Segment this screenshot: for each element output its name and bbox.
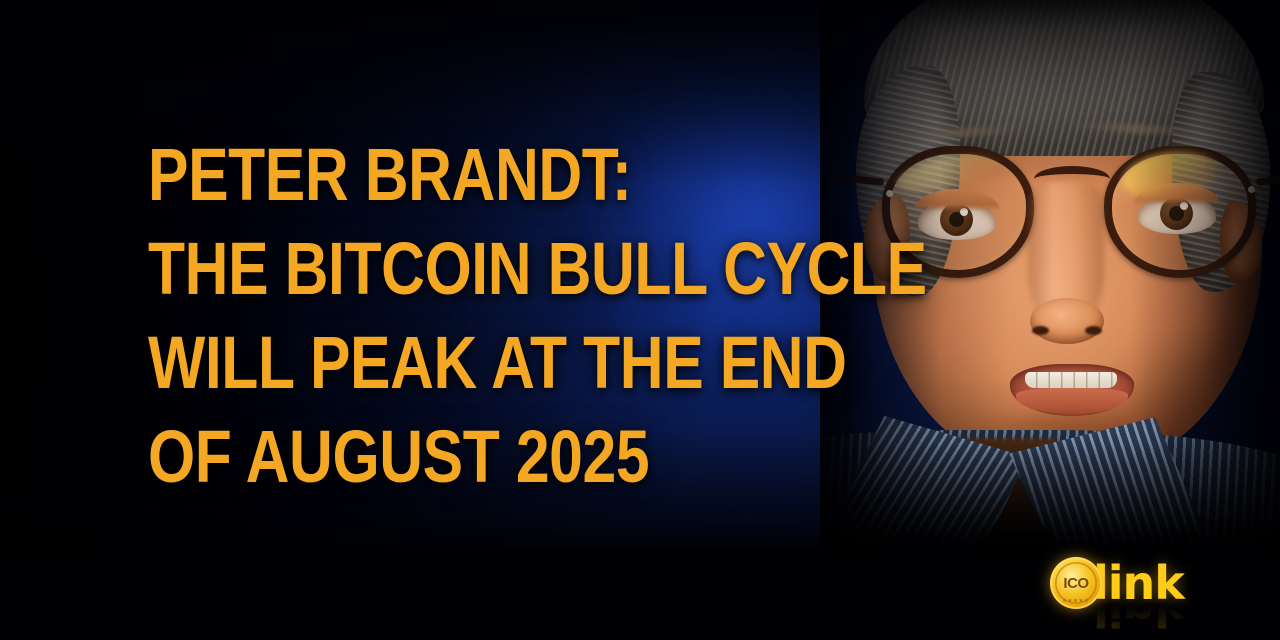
headline-line-1: PETER BRANDT: bbox=[148, 128, 755, 222]
ico-coin-icon: ICO ★★★★★ bbox=[1050, 557, 1102, 609]
headline: PETER BRANDT: THE BITCOIN BULL CYCLE WIL… bbox=[148, 128, 888, 504]
ico-coin-stars: ★★★★★ bbox=[1056, 599, 1096, 604]
article-banner: PETER BRANDT: THE BITCOIN BULL CYCLE WIL… bbox=[0, 0, 1280, 640]
logo-wordmark: link bbox=[1093, 560, 1184, 606]
headline-line-3: WILL PEAK AT THE END bbox=[148, 316, 755, 410]
icolink-logo[interactable]: ICO ★★★★★ link bbox=[1050, 554, 1210, 612]
logo-reflection-word: link bbox=[1093, 606, 1184, 632]
headline-line-2: THE BITCOIN BULL CYCLE bbox=[148, 222, 755, 316]
logo-reflection: link bbox=[1050, 606, 1210, 632]
headline-line-4: OF AUGUST 2025 bbox=[148, 410, 755, 504]
